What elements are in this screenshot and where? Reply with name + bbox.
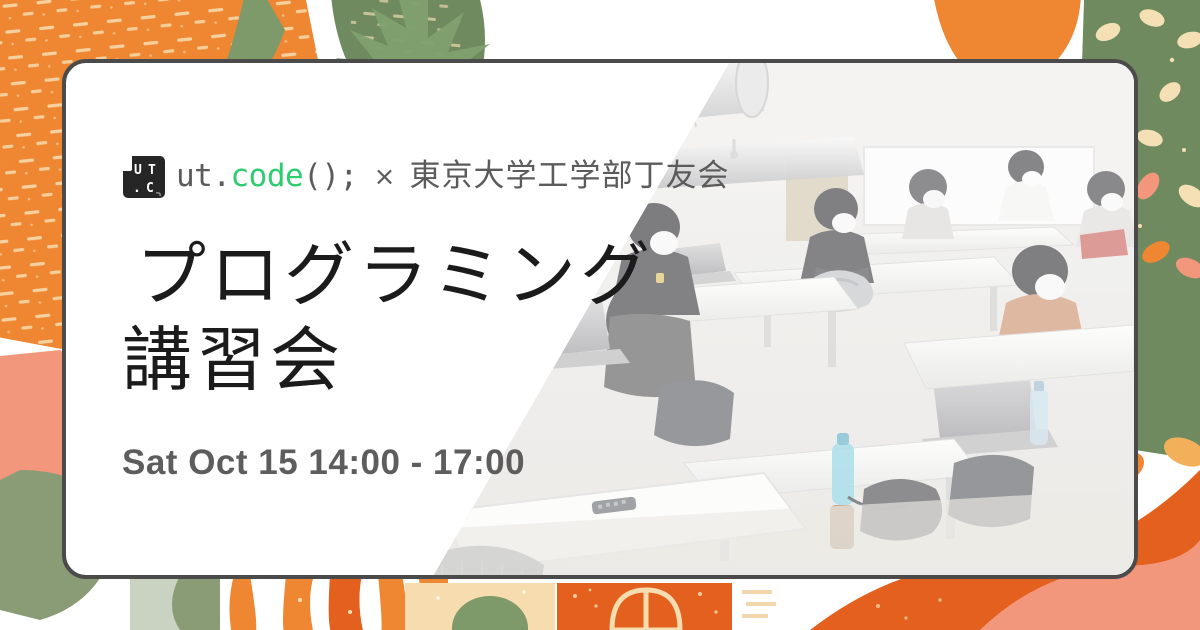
brand-name: ut.code();	[176, 161, 358, 192]
svg-text:U: U	[134, 163, 142, 178]
brand-name-prefix: ut.	[176, 158, 231, 194]
poster-card: U T . C ut.code(); × 東京大学工学部丁友会 プログラミング …	[62, 59, 1138, 579]
page-title-line1: プログラミング	[122, 233, 702, 318]
page-title-line2: 講習会	[122, 318, 702, 403]
svg-text:C: C	[146, 181, 154, 196]
svg-text:T: T	[148, 163, 156, 178]
ut-code-logo-icon: U T . C	[122, 155, 166, 199]
page-title: プログラミング 講習会	[122, 233, 702, 404]
event-datetime: Sat Oct 15 14:00 - 17:00	[122, 443, 702, 483]
cross-separator-icon: ×	[368, 164, 400, 190]
partner-organization: 東京大学工学部丁友会	[409, 161, 729, 192]
brand-name-highlight: code	[231, 158, 304, 194]
poster-content: U T . C ut.code(); × 東京大学工学部丁友会 プログラミング …	[122, 63, 702, 575]
brand-name-suffix: ();	[303, 158, 358, 194]
brand-line: U T . C ut.code(); × 東京大学工学部丁友会	[122, 155, 702, 199]
svg-text:.: .	[133, 181, 141, 196]
